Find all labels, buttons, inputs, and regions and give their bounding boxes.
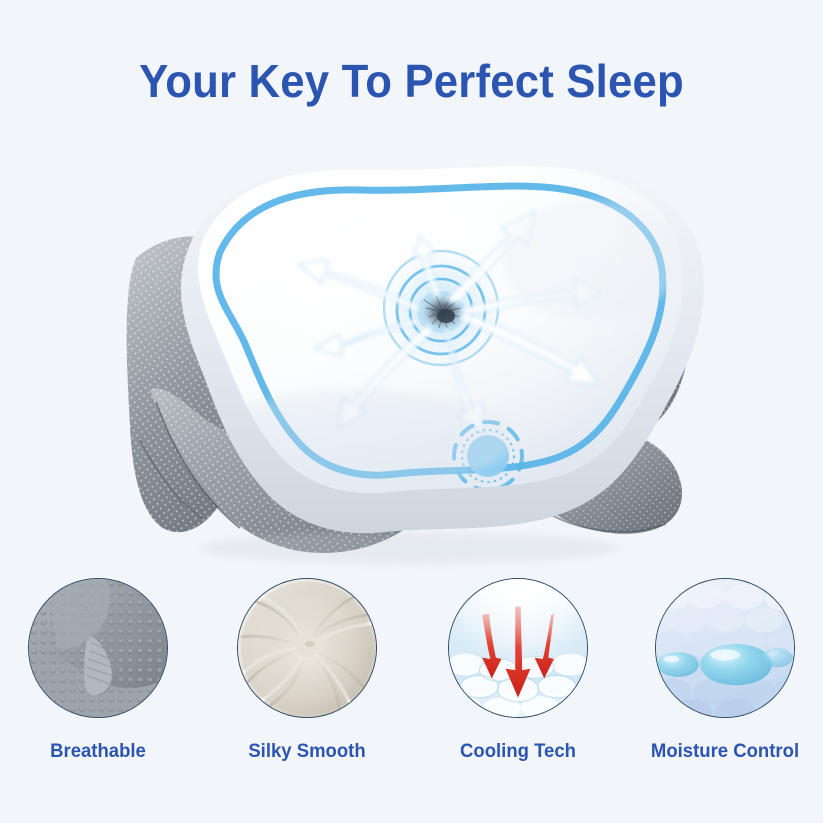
- feature-item-silky-smooth[interactable]: Silky Smooth: [207, 578, 407, 763]
- moisture-control-image: [655, 578, 795, 718]
- hero-product-image: [110, 140, 720, 570]
- silky-smooth-image: [237, 578, 377, 718]
- feature-label-cooling-tech: Cooling Tech: [423, 740, 613, 763]
- page-title: Your Key To Perfect Sleep: [21, 54, 803, 108]
- feature-strip: Breathable: [0, 578, 823, 778]
- feature-item-cooling-tech[interactable]: Cooling Tech: [418, 578, 618, 763]
- breathable-image: [28, 578, 168, 718]
- feature-label-breathable: Breathable: [3, 740, 193, 763]
- feature-label-silky-smooth: Silky Smooth: [212, 740, 402, 763]
- feature-item-moisture-control[interactable]: Moisture Control: [625, 578, 823, 763]
- feature-item-breathable[interactable]: Breathable: [0, 578, 198, 763]
- product-infographic-page: Your Key To Perfect Sleep: [0, 0, 823, 823]
- cooling-tech-image: [448, 578, 588, 718]
- feature-label-moisture-control: Moisture Control: [630, 740, 820, 763]
